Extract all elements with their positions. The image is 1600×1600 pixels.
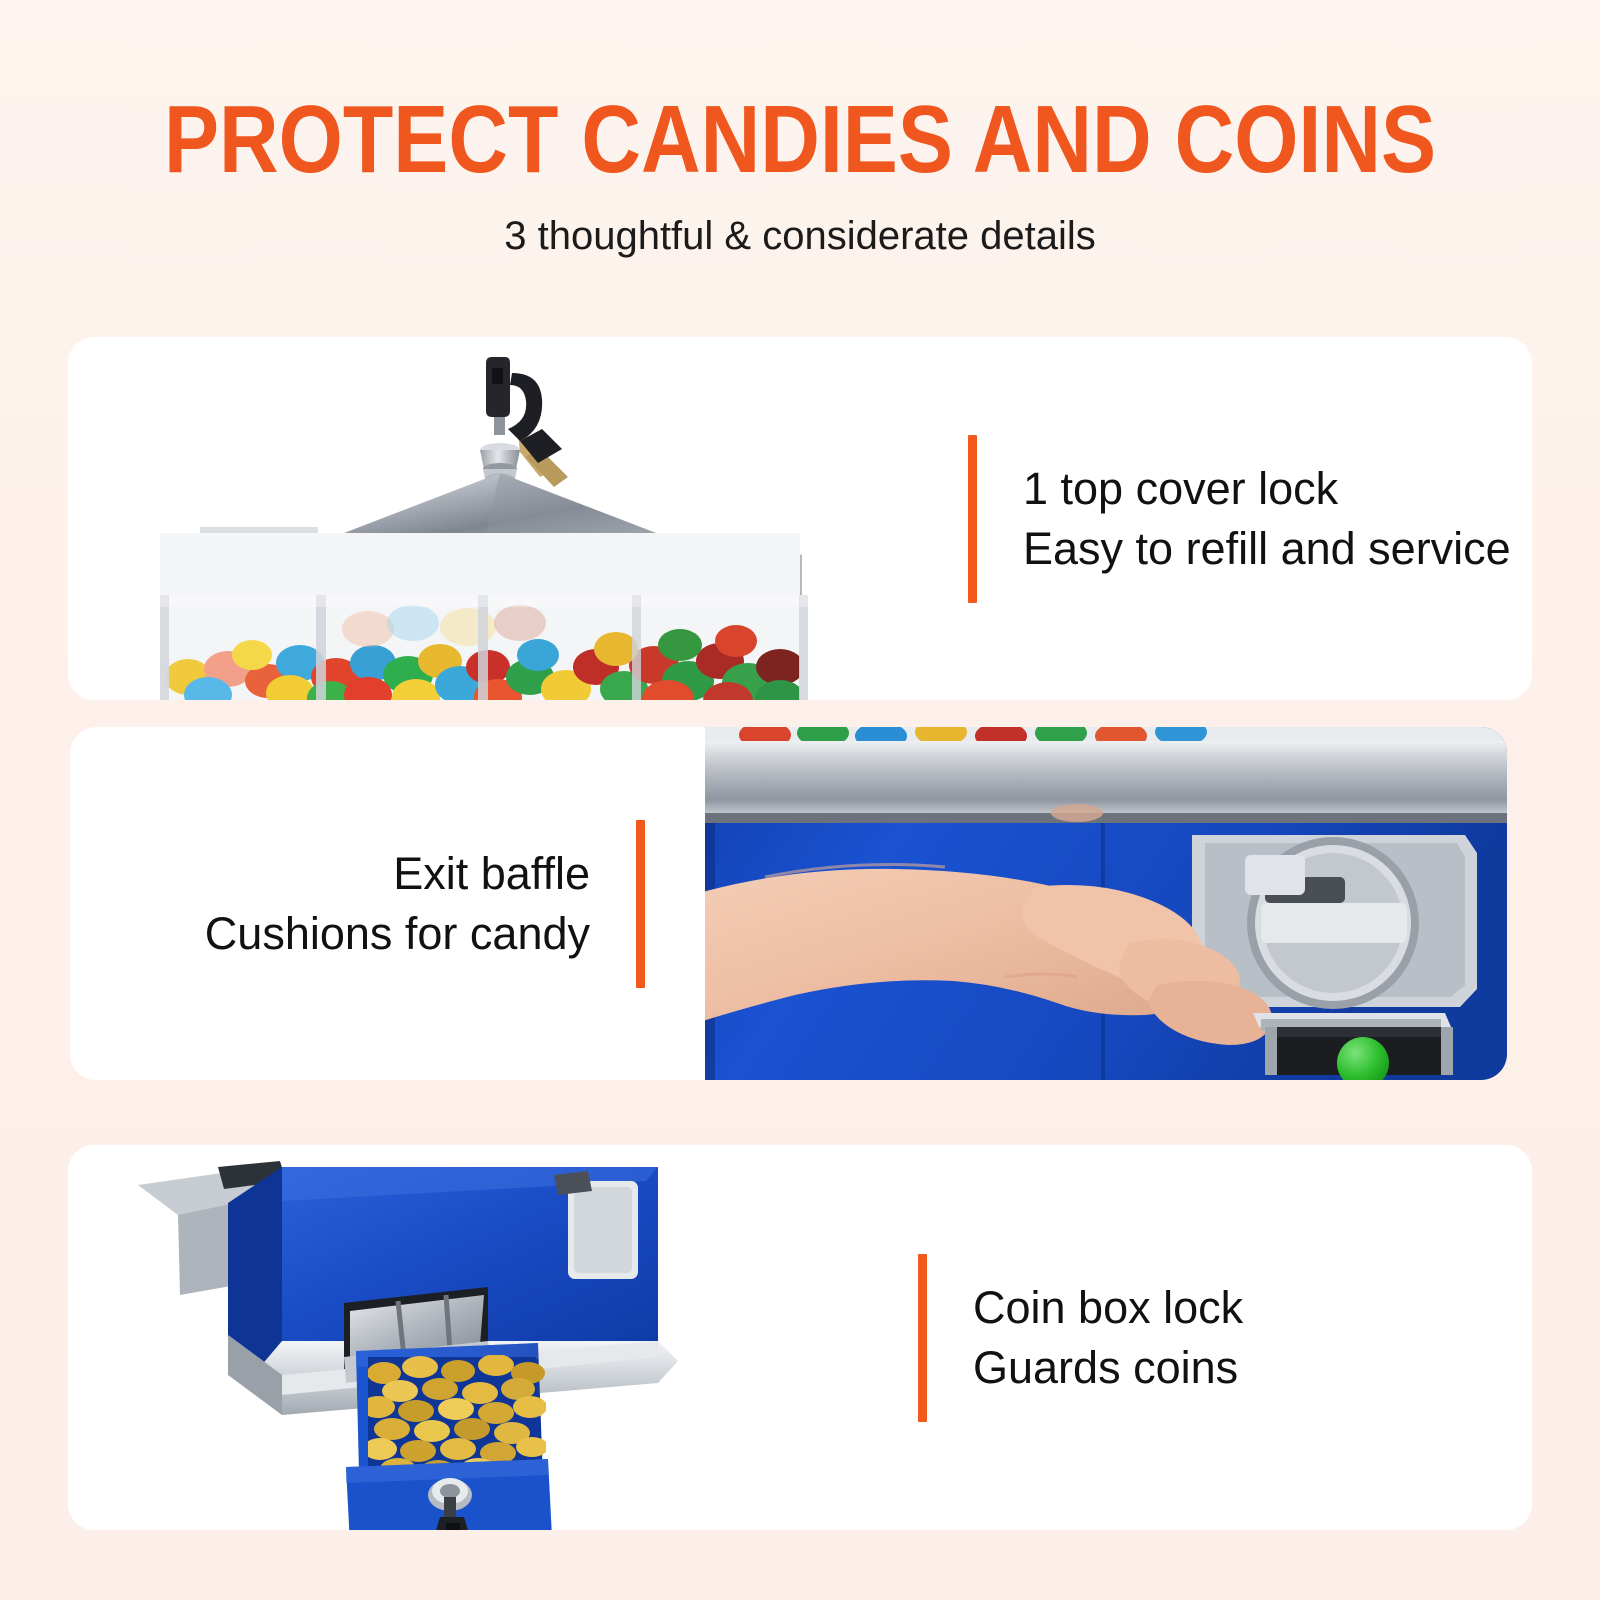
acrylic-hopper bbox=[160, 533, 808, 700]
accent-bar bbox=[968, 435, 977, 603]
baffle-flap bbox=[1253, 1013, 1453, 1080]
page-subtitle: 3 thoughtful & considerate details bbox=[0, 188, 1600, 256]
feature-card-coin-box-lock: Coin box lock Guards coins bbox=[68, 1145, 1532, 1530]
feature-caption-line-2: Guards coins bbox=[973, 1338, 1243, 1397]
feature-copy-coin-box-lock: Coin box lock Guards coins bbox=[858, 1145, 1532, 1530]
feature-caption-line-1: 1 top cover lock bbox=[1023, 459, 1511, 518]
feature-caption-line-1: Exit baffle bbox=[205, 844, 590, 903]
feature-card-top-cover-lock: 1 top cover lock Easy to refill and serv… bbox=[68, 337, 1532, 700]
feature-caption-line-2: Cushions for candy bbox=[205, 904, 590, 963]
feature-card-exit-baffle: Exit baffle Cushions for candy bbox=[70, 727, 1507, 1080]
feature-caption: 1 top cover lock Easy to refill and serv… bbox=[977, 459, 1511, 578]
header: PROTECT CANDIES AND COINS 3 thoughtful &… bbox=[0, 0, 1600, 256]
coin-box-illustration bbox=[68, 1145, 858, 1530]
feature-caption: Exit baffle Cushions for candy bbox=[205, 844, 636, 963]
feature-caption-line-2: Easy to refill and service bbox=[1023, 519, 1511, 578]
feature-copy-exit-baffle: Exit baffle Cushions for candy bbox=[70, 727, 705, 1080]
feature-copy-top-cover-lock: 1 top cover lock Easy to refill and serv… bbox=[908, 337, 1532, 700]
accent-bar bbox=[636, 820, 645, 988]
feature-caption-line-1: Coin box lock bbox=[973, 1278, 1243, 1337]
accent-bar bbox=[918, 1254, 927, 1422]
feature-image-coin-box-lock bbox=[68, 1145, 858, 1530]
exit-baffle-illustration bbox=[705, 727, 1507, 1080]
page-title: PROTECT CANDIES AND COINS bbox=[112, 0, 1488, 188]
candy-machine-top-illustration bbox=[68, 337, 908, 700]
feature-image-exit-baffle bbox=[705, 727, 1507, 1080]
feature-caption: Coin box lock Guards coins bbox=[927, 1278, 1243, 1397]
chrome-rail bbox=[705, 741, 1507, 823]
feature-image-top-cover-lock bbox=[68, 337, 908, 700]
